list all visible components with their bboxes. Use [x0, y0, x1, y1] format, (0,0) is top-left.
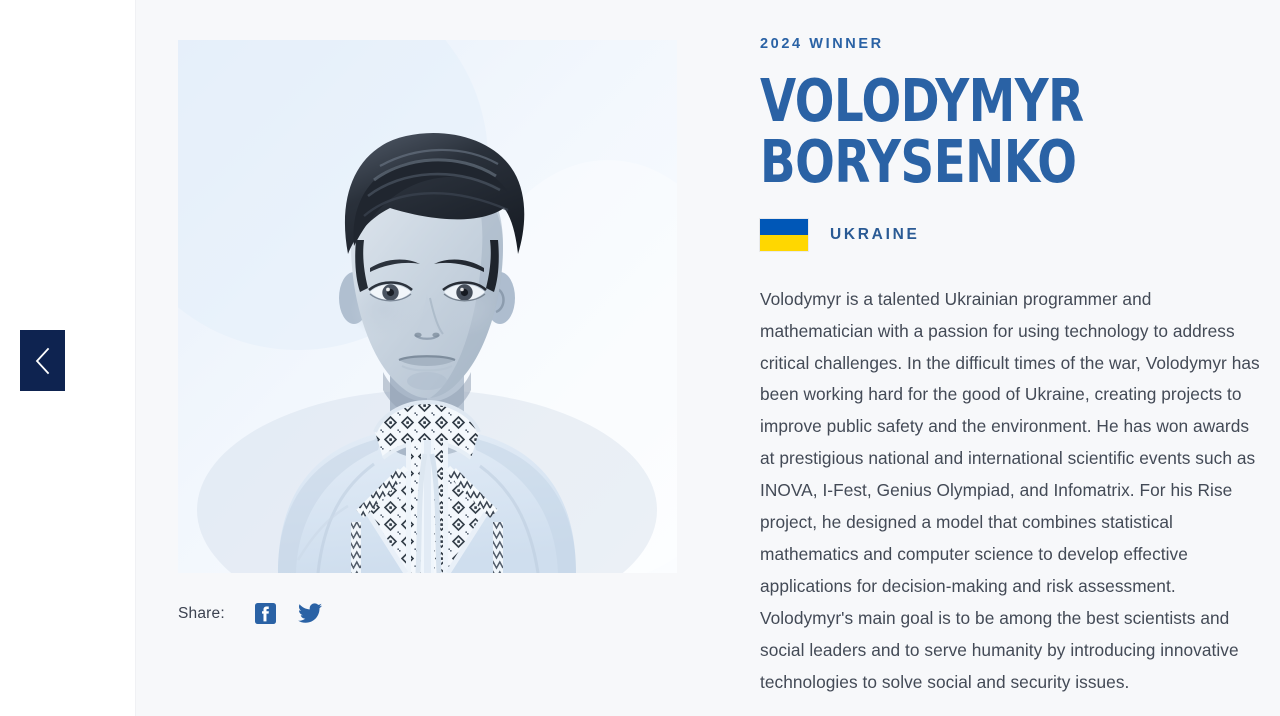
share-twitter-button[interactable]	[298, 603, 322, 624]
share-label: Share:	[178, 605, 225, 623]
winner-detail: Share:	[135, 0, 1280, 716]
ukraine-flag-icon	[760, 219, 808, 251]
country-label: UKRAINE	[830, 226, 920, 244]
winner-info-column: 2024 WINNER VOLODYMYR BORYSENKO UKRAINE …	[720, 0, 1280, 699]
chevron-left-icon	[32, 345, 54, 377]
share-row: Share:	[178, 603, 720, 624]
facebook-icon	[255, 611, 276, 628]
previous-winner-button[interactable]	[20, 330, 65, 391]
flag-stripe-yellow	[760, 235, 808, 251]
country-row: UKRAINE	[760, 219, 1265, 251]
flag-stripe-blue	[760, 219, 808, 235]
page-background: Share:	[0, 0, 1280, 716]
winner-portrait	[178, 40, 677, 573]
twitter-icon	[298, 611, 322, 628]
share-facebook-button[interactable]	[255, 603, 276, 624]
winner-year-badge: 2024 WINNER	[760, 36, 1265, 52]
winner-biography: Volodymyr is a talented Ukrainian progra…	[760, 284, 1260, 699]
winner-media-column: Share:	[135, 0, 720, 624]
share-icons	[255, 603, 322, 624]
page-title: VOLODYMYR BORYSENKO	[760, 70, 1204, 193]
